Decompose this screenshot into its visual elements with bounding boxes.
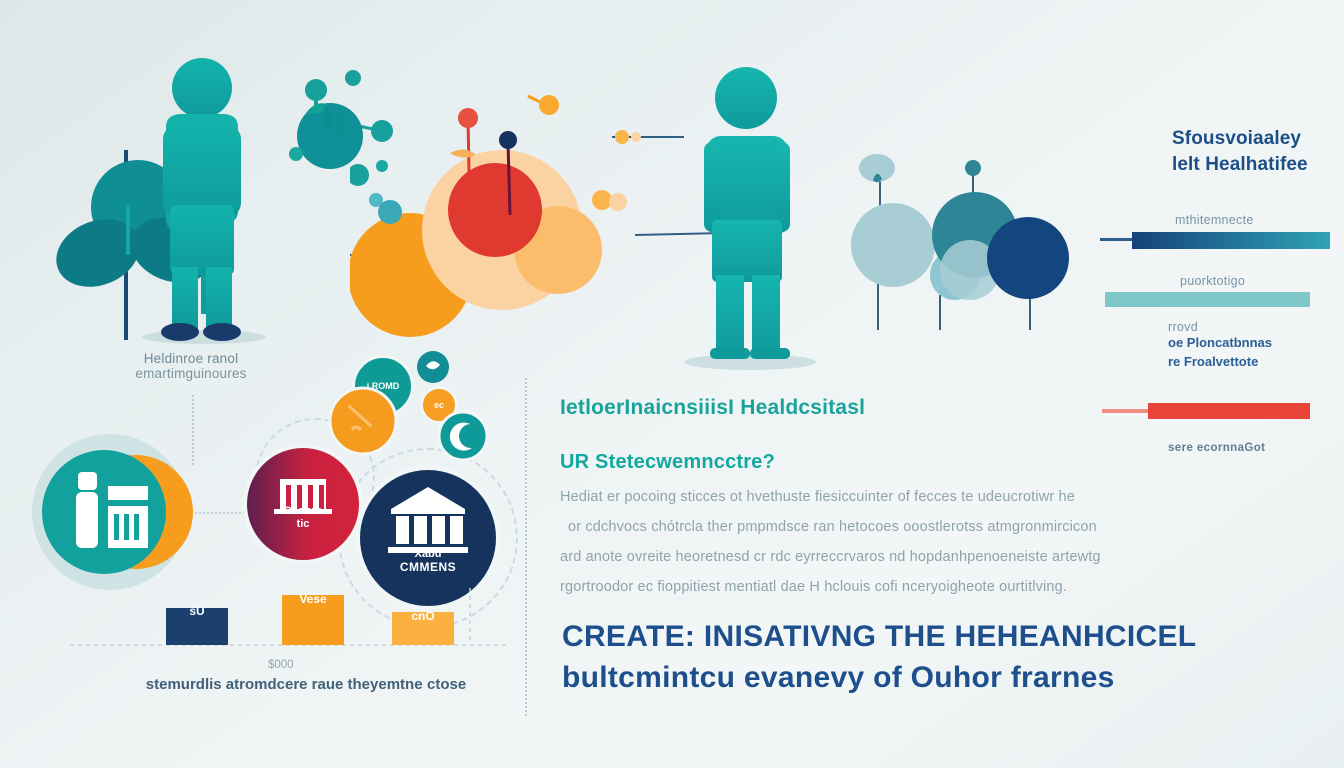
- right-panel-title-line1: Sfousvoiaaley: [1172, 126, 1342, 152]
- bubble-bank-navy-label-1: Xabu: [355, 548, 501, 561]
- right-panel-title-line2: lelt Healhatifee: [1172, 152, 1342, 178]
- right-bar-3-label: rrovd oe Ploncatbnnas re Froalvettote: [1168, 320, 1344, 372]
- right-bar-3-caption: sere ecornnaGot: [1168, 438, 1265, 456]
- bubble-teal-moon[interactable]: [437, 410, 489, 462]
- article-headline-line1: CREATE: INISATIVNG THE HEHEANHCICEL: [562, 620, 1332, 654]
- bubble-hospital-red[interactable]: [242, 443, 364, 565]
- bubble-hospital-red-label-2: tic: [242, 518, 364, 531]
- article-headline: CREATE: INISATIVNG THE HEHEANHCICEL bult…: [562, 620, 1332, 695]
- bar-chart-label-3: cnO: [392, 607, 454, 625]
- infographic-canvas: Sfousvoiaaley lelt Healhatifee mthitemne…: [0, 0, 1344, 768]
- bar-chart-axis-tick: $000: [268, 655, 294, 673]
- bubble-teal-tiny[interactable]: [416, 350, 450, 384]
- right-panel-title: Sfousvoiaaley lelt Healhatifee: [1172, 126, 1342, 177]
- right-bar-3-caption-text: sere ecornnaGot: [1168, 442, 1265, 454]
- right-bar-1-label: mthitemnecte: [1175, 211, 1254, 229]
- article-eyebrow: IetloerInaicnsiiisI Healdcsitasl: [560, 396, 865, 420]
- bubble-bank-navy-label: Xabu CMMENS: [355, 548, 501, 574]
- person-figure-left: [140, 55, 270, 345]
- article-headline-line2: bultcmintcu evanevy of Ouhor frarnes: [562, 661, 1332, 695]
- article-paragraph-line-4: rgortroodor ec fioppitiest mentiatl dae …: [560, 572, 1250, 602]
- blue-bubble-cluster: [845, 125, 1105, 375]
- right-bar-3: [1090, 400, 1344, 422]
- bar-chart-caption-main: stemurdlis atromdcere raue theyemtne: [146, 676, 423, 693]
- bubble-hospital-red-label-1: Dadnrs: [242, 505, 364, 518]
- section-divider: [525, 378, 527, 716]
- left-figure-caption: Heldinroe ranol emartimguinoures: [76, 351, 306, 381]
- right-bar-1: [1100, 230, 1344, 252]
- right-bar-3-label-bold-2: re Froalvettote: [1168, 353, 1344, 372]
- right-bar-1-label-text: mthitemnecte: [1175, 213, 1254, 227]
- right-bar-2: [1100, 290, 1344, 310]
- bubble-bank-navy-label-2: CMMENS: [355, 561, 501, 575]
- bar-chart-label-1: sU: [166, 602, 228, 620]
- person-figure-right: [680, 60, 820, 370]
- right-bar-2-label: puorktotigo: [1180, 272, 1245, 290]
- article-paragraph: Hediat er pocoing sticces ot hvethuste f…: [560, 482, 1250, 602]
- bubble-hospital-red-label: Dadnrs tic: [242, 505, 364, 530]
- bubble-orange-face-label: ec: [434, 400, 444, 410]
- article-paragraph-line-3: ard anote ovreite heoretnesd cr rdc eyrr…: [560, 542, 1250, 572]
- article-paragraph-line-1: Hediat er pocoing sticces ot hvethuste f…: [560, 482, 1250, 512]
- bar-chart-caption-dim: ctose: [427, 676, 466, 693]
- left-figure-caption-line2: emartimguinoures: [76, 366, 306, 381]
- leader-line-left-of-person: [612, 120, 692, 200]
- right-bar-3-label-bold-1: oe Ploncatbnnas: [1168, 334, 1344, 353]
- pill-bottle-and-building-icon[interactable]: [30, 430, 200, 595]
- article-subhead: UR Stetecwemncctre?: [560, 451, 775, 474]
- article-paragraph-line-2: or cdchvocs chótrcla ther pmpmdsce ran h…: [560, 512, 1250, 542]
- bar-chart-caption: stemurdlis atromdcere raue theyemtne cto…: [96, 676, 516, 694]
- bar-chart-label-2: Vese: [282, 590, 344, 608]
- right-bar-2-label-text: puorktotigo: [1180, 274, 1245, 288]
- right-bar-3-label-small: rrovd: [1168, 320, 1344, 334]
- left-figure-caption-line1: Heldinroe ranol: [76, 351, 306, 366]
